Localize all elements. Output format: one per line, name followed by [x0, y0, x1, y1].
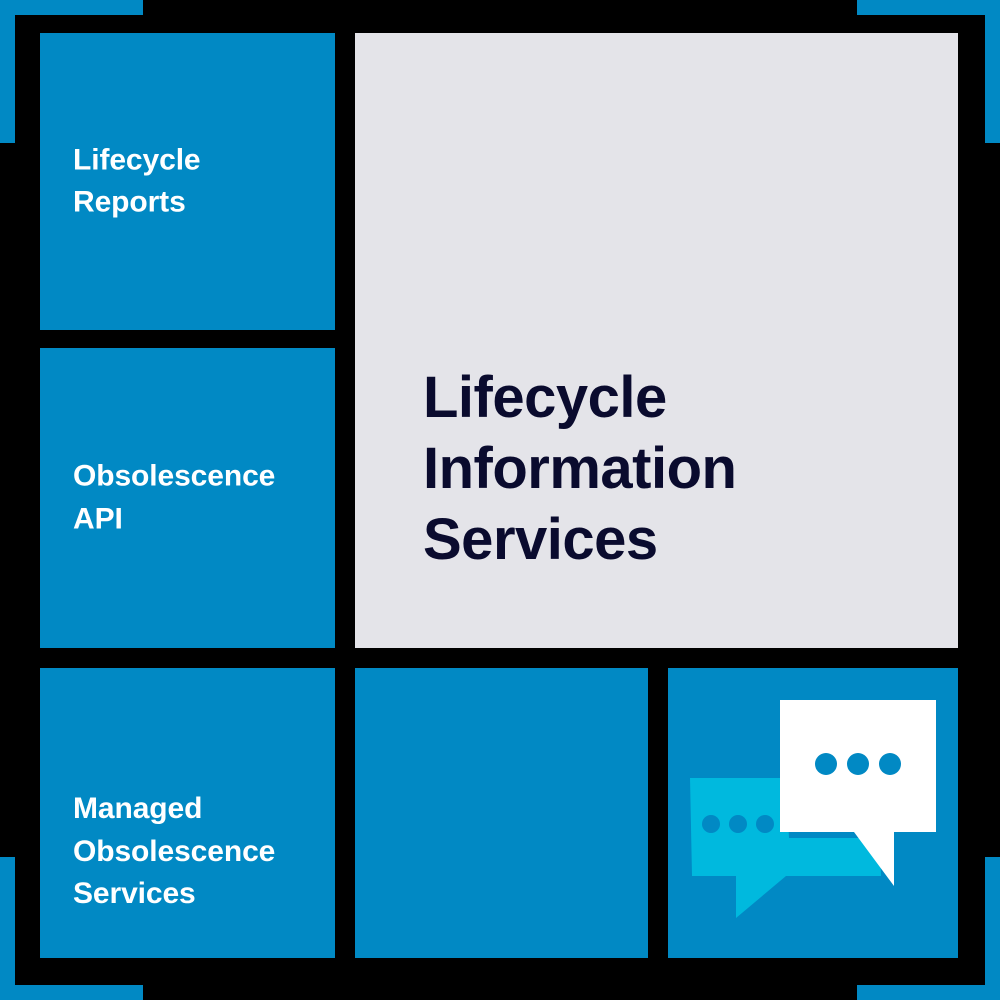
bracket-top-right-horizontal — [857, 0, 1000, 15]
bracket-top-left-horizontal — [0, 0, 143, 15]
bracket-bottom-left-horizontal — [0, 985, 143, 1000]
chat-bubble-front-dots-icon — [815, 753, 901, 775]
bracket-bottom-left-vertical — [0, 857, 15, 1000]
sidebar-item-obsolescence-api[interactable]: Obsolescence API — [40, 348, 335, 648]
sidebar-item-label: Lifecycle Reports — [73, 139, 321, 224]
bracket-bottom-right-vertical — [985, 857, 1000, 1000]
infographic-canvas: Lifecycle Reports Obsolescence API Manag… — [0, 0, 1000, 1000]
sidebar-item-managed-obsolescence-services[interactable]: Managed Obsolescence Services — [40, 668, 335, 958]
sidebar-item-label: Obsolescence API — [73, 455, 321, 540]
bracket-top-right-vertical — [985, 0, 1000, 143]
bracket-bottom-right-horizontal — [857, 985, 1000, 1000]
hero-panel: Lifecycle Information Services — [355, 33, 958, 648]
chat-bubbles-icon — [668, 668, 958, 958]
chat-bubble-back-dots-icon — [702, 815, 774, 833]
sidebar-item-label: Managed Obsolescence Services — [73, 788, 321, 916]
sidebar-item-lifecycle-reports[interactable]: Lifecycle Reports — [40, 33, 335, 330]
bracket-top-left-vertical — [0, 0, 15, 143]
page-title: Lifecycle Information Services — [423, 363, 918, 575]
bottom-tile-middle[interactable] — [355, 668, 648, 958]
